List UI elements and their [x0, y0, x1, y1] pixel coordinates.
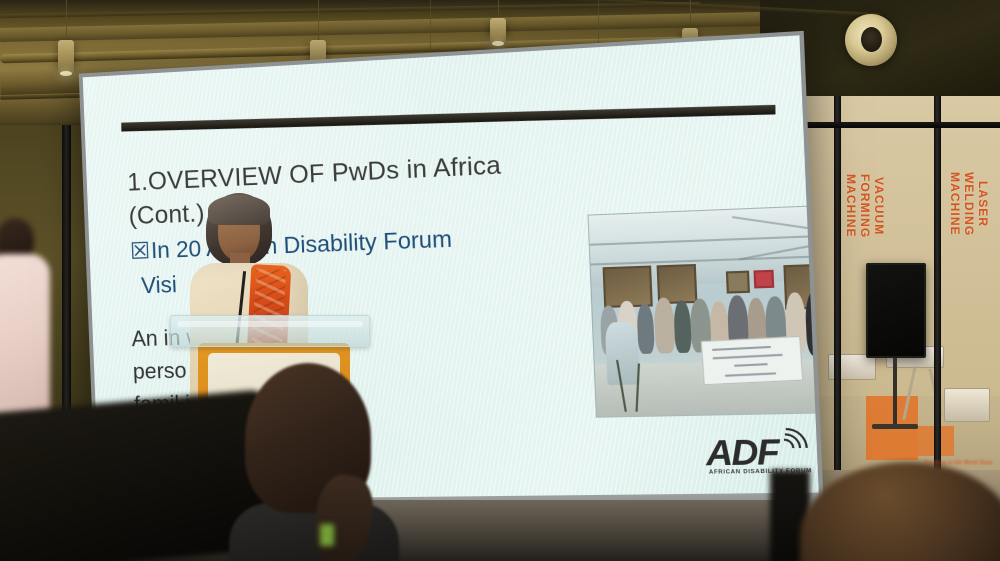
presenter-hair-front — [208, 195, 270, 225]
wall-monitor[interactable] — [866, 263, 926, 358]
pendant-light-3 — [490, 18, 506, 44]
photo-person — [636, 303, 655, 354]
slide-photo-group — [587, 204, 818, 417]
machine-label-laser-welding: LASER WELDING MACHINE — [948, 172, 990, 236]
photo-banner-line — [712, 346, 771, 351]
presentation-scene: VACUUM FORMING MACHINE LASER WELDING MAC… — [0, 0, 1000, 561]
photo-person — [653, 297, 675, 353]
foreground-chair-back-2 — [0, 431, 127, 561]
photo-banner-line — [713, 354, 784, 360]
photo-banner-line — [726, 371, 777, 376]
podium-acrylic-top — [170, 315, 370, 347]
light-hanger-4 — [690, 0, 691, 30]
light-hanger-1 — [66, 0, 67, 42]
photo-banner-line — [735, 363, 768, 367]
audience-badge — [320, 524, 334, 546]
machine-label-vacuum-forming: VACUUM FORMING MACHINE — [844, 174, 886, 238]
pendant-light-1 — [58, 40, 74, 74]
photo-person — [673, 300, 692, 352]
audience-member-ponytail — [245, 363, 371, 561]
photo-person-foreground — [605, 321, 639, 385]
checkbox-bullet-icon: ☒ — [129, 235, 150, 267]
light-hanger-5 — [430, 0, 431, 56]
machine-unit-c — [944, 388, 990, 422]
monitor-base — [872, 424, 918, 429]
ceiling-vent-icon — [845, 14, 897, 66]
monitor-stand — [893, 358, 897, 426]
slide-divider-rule — [121, 105, 775, 132]
light-hanger-3 — [498, 0, 499, 20]
photo-banner — [701, 335, 804, 385]
slide-subheading: Visi — [141, 271, 178, 299]
light-hanger-2 — [318, 0, 319, 42]
